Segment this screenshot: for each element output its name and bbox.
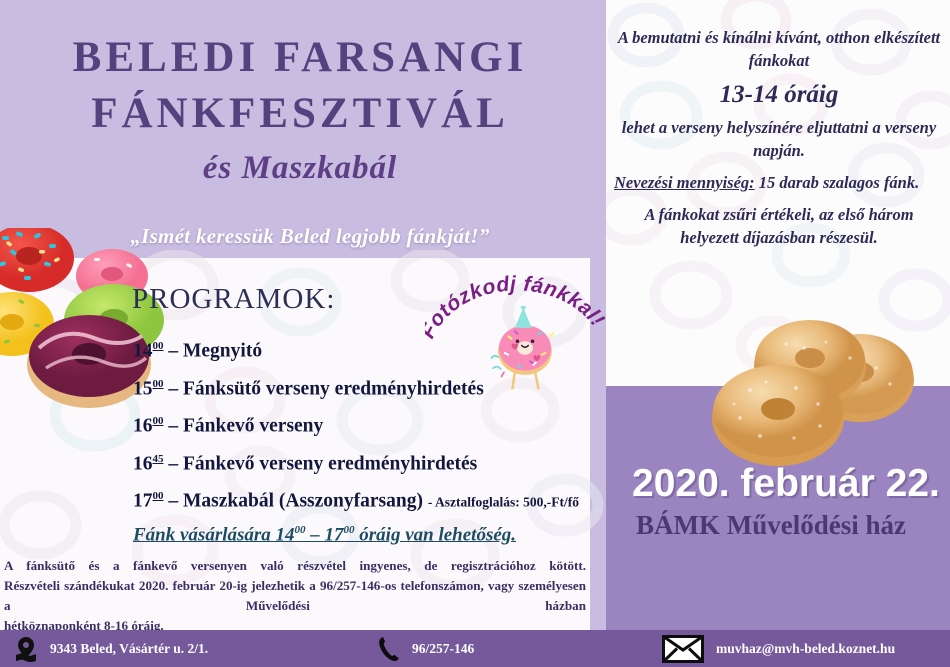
poster-canvas: BELEDI FARSANGI FÁNKFESZTIVÁL és Maszkab… — [0, 0, 950, 667]
program-label: Fánkevő verseny — [183, 416, 323, 437]
event-date: 2020. február 22. — [632, 462, 950, 506]
program-note: - Asztalfoglalás: 500,-Ft/fő — [428, 495, 579, 510]
envelope-icon — [662, 635, 704, 663]
contact-email-text: muvhaz@mvh-beled.koznet.hu — [716, 641, 895, 657]
phone-icon — [378, 636, 400, 662]
submission-paragraph-3: A fánkokat zsűri értékeli, az első három… — [614, 203, 944, 249]
program-dash: – — [168, 416, 178, 437]
program-item: 1600 – Fánkevő verseny — [133, 405, 603, 443]
submission-dropoff-time: 13-14 óráig — [614, 81, 944, 109]
contact-address-text: 9343 Beled, Vásártér u. 2/1. — [50, 641, 208, 657]
submission-info: A bemutatni és kínálni kívánt, otthon el… — [614, 26, 944, 258]
program-minutes: 00 — [153, 490, 164, 502]
purchase-note: Fánk vásárlására 1400 – 1700 óráig van l… — [133, 524, 603, 546]
poster-title: BELEDI FARSANGI FÁNKFESZTIVÁL és Maszkab… — [0, 30, 600, 187]
registration-note: A fánksütő és a fánkevő versenyen való r… — [4, 556, 586, 636]
program-dash: – — [168, 453, 178, 474]
map-pin-icon — [14, 636, 38, 662]
purchase-note-post: óráig van lehetőség. — [355, 524, 517, 545]
program-label: Maszkabál (Asszonyfarsang) — [183, 491, 423, 512]
program-time: 16 — [133, 416, 153, 437]
program-time: 16 — [133, 453, 153, 474]
title-line-1: BELEDI FARSANGI — [0, 30, 600, 86]
purchase-note-sup-end: 00 — [344, 524, 355, 536]
program-minutes: 00 — [153, 340, 164, 352]
sugared-donuts-photo — [700, 318, 930, 468]
program-time: 17 — [133, 491, 153, 512]
photo-booth-sticker: Fotózkodj fánkkal! — [425, 258, 605, 408]
program-time: 15 — [133, 378, 153, 399]
contact-phone: 96/257-146 — [378, 630, 474, 667]
program-item: 1700 – Maszkabál (Asszonyfarsang) - Aszt… — [133, 480, 603, 519]
event-date-block: 2020. február 22. BÁMK Művelődési ház — [614, 462, 950, 541]
program-dash: – — [168, 341, 178, 362]
program-time: 14 — [133, 341, 153, 362]
program-heading: PROGRAMOK: — [132, 283, 335, 316]
contact-address: 9343 Beled, Vásártér u. 2/1. — [14, 630, 208, 667]
purchase-note-mid: – 17 — [306, 524, 344, 545]
entry-quantity-label: Nevezési mennyiség: — [614, 173, 755, 192]
submission-paragraph-1: A bemutatni és kínálni kívánt, otthon el… — [614, 26, 944, 72]
contact-phone-text: 96/257-146 — [412, 641, 474, 657]
entry-quantity-value: 15 darab szalagos fánk. — [755, 173, 920, 192]
program-label: Megnyitó — [183, 341, 262, 362]
party-donut-icon — [483, 306, 567, 390]
registration-note-line-2: Részvételi szándékukat 2020. február 20-… — [4, 576, 586, 616]
entry-quantity-line: Nevezési mennyiség: 15 darab szalagos fá… — [614, 171, 944, 194]
poster-subtitle: és Maszkabál — [0, 150, 600, 187]
program-dash: – — [168, 491, 178, 512]
purchase-note-pre: Fánk vásárlására 14 — [133, 524, 295, 545]
contact-email: muvhaz@mvh-beled.koznet.hu — [662, 630, 895, 667]
registration-note-line-1: A fánksütő és a fánkevő versenyen való r… — [4, 556, 586, 576]
program-minutes: 45 — [153, 453, 164, 465]
program-minutes: 00 — [153, 415, 164, 427]
program-minutes: 00 — [153, 378, 164, 390]
purchase-note-sup-start: 00 — [295, 524, 306, 536]
title-line-2: FÁNKFESZTIVÁL — [0, 86, 600, 142]
event-venue: BÁMK Művelődési ház — [636, 510, 950, 541]
program-label: Fánkevő verseny eredményhirdetés — [183, 453, 477, 474]
submission-paragraph-2: lehet a verseny helyszínére eljuttatni a… — [614, 116, 944, 162]
program-dash: – — [168, 378, 178, 399]
program-item: 1645 – Fánkevő verseny eredményhirdetés — [133, 443, 603, 481]
